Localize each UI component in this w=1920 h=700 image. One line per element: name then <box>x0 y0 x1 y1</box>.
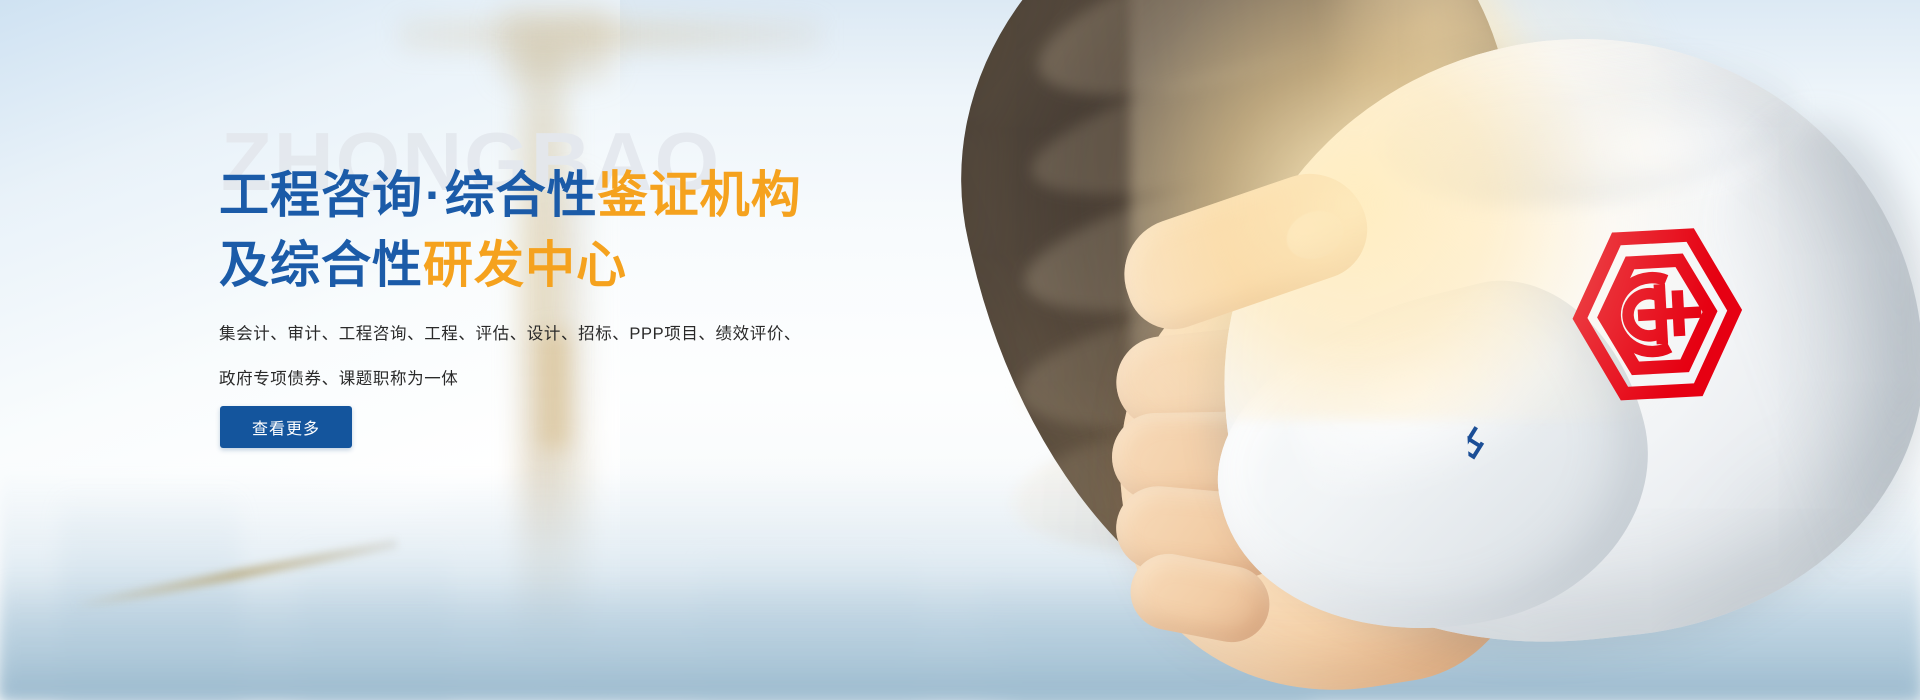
headline-segment-blue-3: 及综合性 <box>219 237 423 293</box>
helmet-brand-logo: 中宝工程管理 <box>1451 102 1799 479</box>
hero-photo: 中宝工程管理 <box>820 0 1920 700</box>
headline: 工程咨询·综合性鉴证机构 及综合性研发中心 <box>219 160 979 300</box>
banner-description: 集会计、审计、工程咨询、工程、评估、设计、招标、PPP项目、绩效评价、 政府专项… <box>219 312 819 402</box>
description-line-1: 集会计、审计、工程咨询、工程、评估、设计、招标、PPP项目、绩效评价、 <box>219 312 819 357</box>
headline-segment-orange: 鉴证机构 <box>598 167 802 223</box>
headline-segment-blue-2: 综合性 <box>445 167 598 223</box>
zhongbao-hexagon-icon <box>1565 222 1750 407</box>
hero-banner: 中宝工程管理 ZHONGBA <box>0 0 1920 700</box>
banner-content: ZHONGBAO 工程咨询·综合性鉴证机构 及综合性研发中心 集会计、审计、工程… <box>219 0 979 700</box>
headline-segment-orange-2: 研发中心 <box>423 237 627 293</box>
description-line-2: 政府专项债券、课题职称为一体 <box>219 357 819 402</box>
headline-separator-dot: · <box>423 167 445 223</box>
view-more-button[interactable]: 查看更多 <box>220 406 352 448</box>
headline-line-2: 及综合性研发中心 <box>219 230 979 300</box>
headline-line-1: 工程咨询·综合性鉴证机构 <box>219 160 979 230</box>
headline-segment-blue: 工程咨询 <box>219 167 423 223</box>
